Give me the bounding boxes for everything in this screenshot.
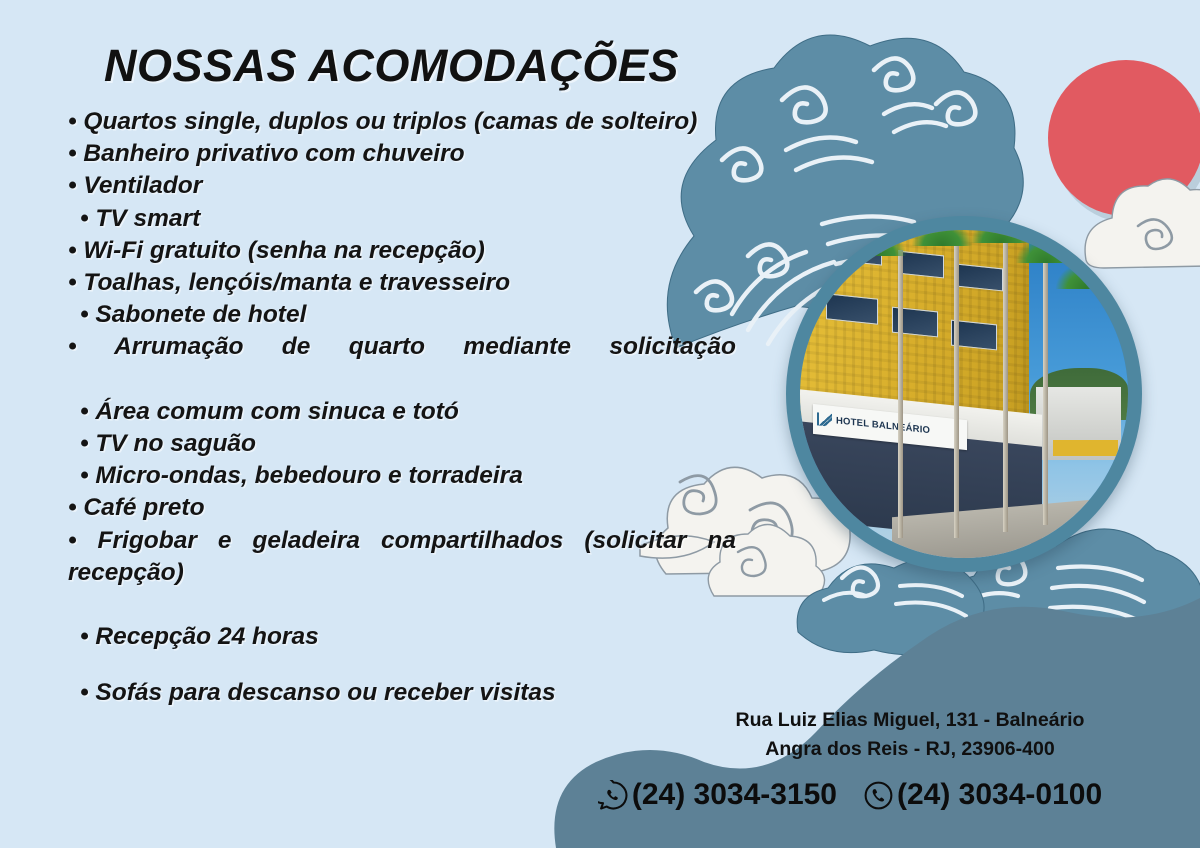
palm-trunk	[954, 237, 959, 539]
phone-number-landline: (24) 3034-0100	[897, 778, 1102, 812]
phone-whatsapp[interactable]: (24) 3034-3150	[598, 778, 837, 812]
yellow-awning	[1053, 440, 1119, 456]
hotel-sign-text: HOTEL BALNEÁRIO	[836, 416, 930, 437]
phone-block: (24) 3034-3150 (24) 3034-0100	[530, 778, 1170, 812]
list-item: • Área comum com sinuca e totó	[68, 396, 736, 428]
poster-canvas: HOTEL BALNEÁRIO NOSSAS ACOMODAÇÕES • Qua…	[0, 0, 1200, 848]
hotel-logo-mark	[817, 413, 832, 428]
telephone-icon	[863, 780, 894, 811]
red-sun-circle	[1048, 60, 1200, 230]
list-item-final: • Sofás para descanso ou receber visitas	[68, 677, 736, 709]
photo-image: HOTEL BALNEÁRIO	[800, 230, 1128, 558]
list-item: • Wi-Fi gratuito (senha na recepção)	[68, 235, 736, 267]
list-item: • Frigobar e geladeira compartilhados (s…	[68, 525, 736, 622]
list-item: • Ventilador	[68, 170, 736, 202]
window	[826, 293, 878, 325]
address-line-2: Angra dos Reis - RJ, 23906-400	[640, 735, 1180, 764]
address-block: Rua Luiz Elias Miguel, 131 - Balneário A…	[640, 706, 1180, 765]
palm-frond	[1016, 237, 1076, 263]
list-item: • TV no saguão	[68, 428, 736, 460]
phone-number-whatsapp: (24) 3034-3150	[632, 778, 837, 812]
window	[957, 264, 1003, 292]
list-item: • TV smart	[68, 203, 736, 235]
palm-trunk	[1043, 256, 1048, 525]
palm-trunk	[898, 250, 903, 539]
palm-trunk	[1003, 243, 1008, 532]
list-item: • Quartos single, duplos ou triplos (cam…	[68, 106, 736, 138]
list-item: • Sabonete de hotel	[68, 299, 736, 331]
list-item: • Recepção 24 horas	[68, 621, 736, 653]
list-item: • Micro-ondas, bebedouro e torradeira	[68, 460, 736, 492]
list-item: • Toalhas, lençóis/manta e travesseiro	[68, 267, 736, 299]
palm-frond	[846, 230, 906, 256]
phone-landline[interactable]: (24) 3034-0100	[863, 778, 1102, 812]
list-item: • Arrumação de quarto mediante solicitaç…	[68, 331, 736, 395]
list-item: • Banheiro privativo com chuveiro	[68, 138, 736, 170]
whatsapp-icon	[598, 780, 629, 811]
hotel-photo: HOTEL BALNEÁRIO	[786, 216, 1142, 572]
address-line-1: Rua Luiz Elias Miguel, 131 - Balneário	[640, 706, 1180, 735]
list-spacer	[68, 653, 736, 677]
list-item: • Café preto	[68, 492, 736, 524]
palm-frond	[1056, 263, 1116, 289]
page-title: NOSSAS ACOMODAÇÕES	[104, 40, 679, 92]
amenities-list: • Quartos single, duplos ou triplos (cam…	[68, 106, 736, 710]
palm-frond	[912, 230, 972, 246]
